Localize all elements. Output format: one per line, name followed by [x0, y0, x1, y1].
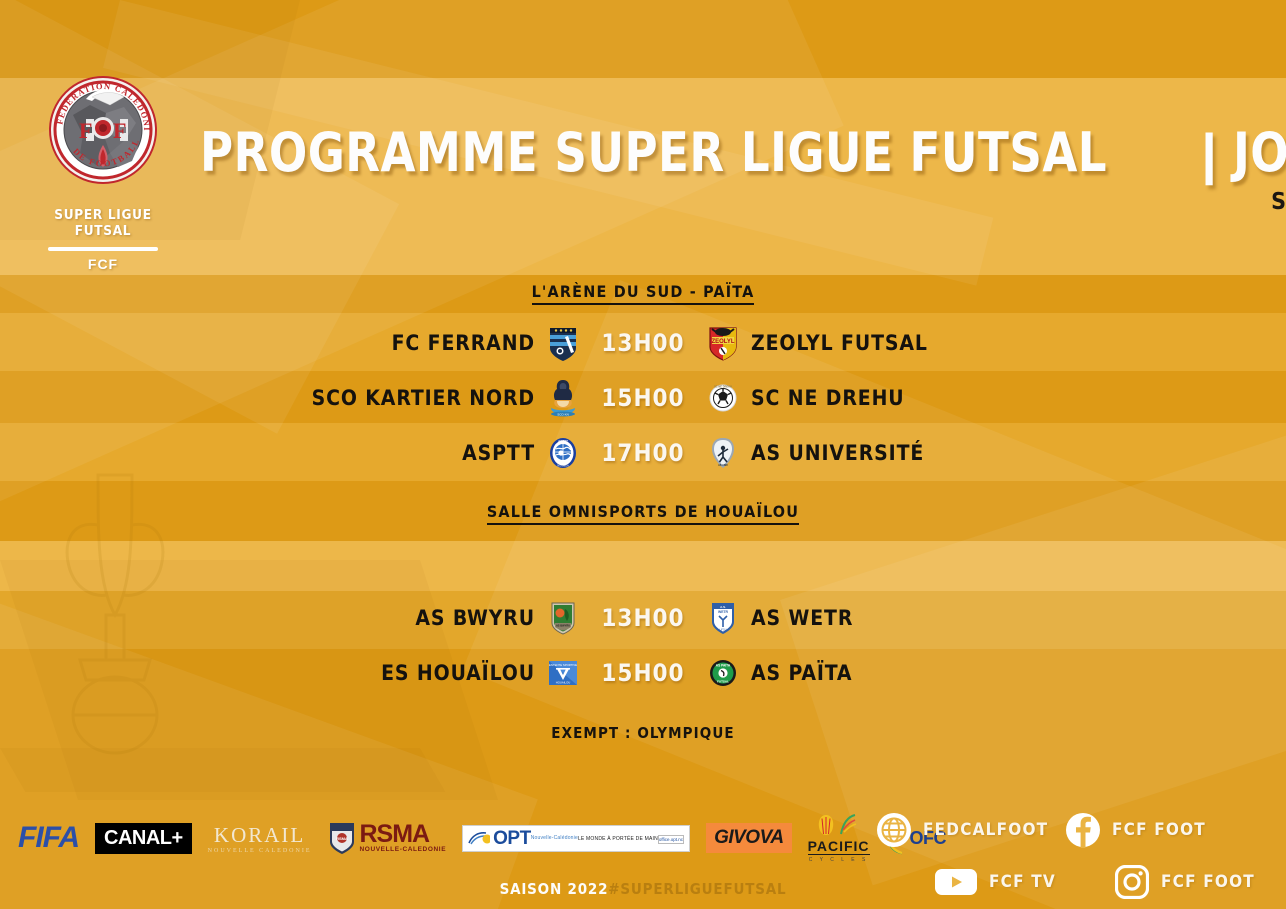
svg-text:F: F: [113, 118, 126, 143]
rsma-crest-icon: RSMA: [328, 821, 356, 855]
season-label: SAISON 2022: [500, 880, 609, 898]
match-time: 15H00: [591, 384, 695, 412]
title-separator: |: [1201, 126, 1217, 182]
globe-icon: [876, 812, 912, 848]
page-header: F F FÉDÉRATION CALÉDONIENNE: [0, 78, 1286, 275]
match-row: AS BWYRU AS BWYRU 13H00 A.S. WETR LIFOU …: [0, 590, 1286, 645]
venue-name: L'ARÈNE DU SUD - PAÏTA: [532, 282, 755, 305]
league-divider: [48, 247, 158, 251]
svg-text:SCO KN: SCO KN: [557, 412, 569, 416]
home-team-name: ES HOUAÏLOU: [245, 661, 535, 685]
sco-kartier-nord-crest-icon: SCO KN: [535, 378, 591, 418]
svg-text:ASPTT: ASPTT: [558, 439, 568, 443]
exempt-note: EXEMPT : OLYMPIQUE: [0, 724, 1286, 742]
away-team-name: ZEOLYL FUTSAL: [751, 331, 1041, 355]
venue-2: SALLE OMNISPORTS DE HOUAÏLOU: [0, 502, 1286, 525]
as-universite-crest-icon: AS UNIV: [695, 437, 751, 469]
opt-sub2: LE MONDE À PORTÉE DE MAIN: [578, 836, 658, 842]
hashtag-label: #SUPERLIGUEFUTSAL: [608, 880, 786, 898]
opt-swoosh-icon: [468, 830, 490, 846]
svg-text:AS UNIV: AS UNIV: [718, 464, 728, 467]
opt-sub1: Nouvelle-Calédonie: [531, 835, 578, 841]
opt-sub3: office.opt.nc: [658, 835, 684, 844]
away-team-name: AS WETR: [751, 606, 1041, 630]
shell-icon: [818, 814, 834, 836]
round-block: JOURNÉE 3 SAMEDI 26 MARS: [1233, 126, 1286, 215]
opt-logo: OPT: [493, 829, 531, 848]
as-wetr-crest-icon: A.S. WETR LIFOU: [695, 601, 751, 635]
match-time: 13H00: [591, 604, 695, 632]
asptt-crest-icon: ASPTT NOUMEA: [535, 437, 591, 469]
federation-crest: F F FÉDÉRATION CALÉDONIENNE: [48, 75, 158, 185]
rsma-sub: NOUVELLE-CALEDONIE: [360, 846, 447, 853]
svg-text:SC NE DREHU: SC NE DREHU: [714, 384, 732, 388]
match-date: SAMEDI 26 MARS: [1233, 189, 1286, 215]
es-houailou-crest-icon: ENTENTE SPORTIVE HOUAILOU: [535, 660, 591, 686]
title-row: PROGRAMME SUPER LIGUE FUTSAL | JOURNÉE 3…: [200, 126, 1286, 215]
federation-abbr: FCF: [33, 256, 173, 272]
sponsor-opt: OPT Nouvelle-Calédonie LE MONDE À PORTÉE…: [462, 825, 690, 852]
svg-text:ZEOLYL: ZEOLYL: [711, 339, 734, 345]
website-label: FEDCALFOOT: [923, 820, 1048, 840]
rsma-logo: RSMA: [360, 823, 447, 847]
svg-text:F: F: [79, 118, 92, 143]
home-team-name: FC FERRAND: [245, 331, 535, 355]
svg-text:A.S.: A.S.: [720, 605, 726, 609]
league-label: SUPER LIGUE FUTSAL: [33, 207, 173, 239]
svg-text:HOUAILOU: HOUAILOU: [556, 680, 571, 684]
round-title: JOURNÉE 3: [1233, 126, 1286, 180]
match-row: FC FERRAND 13H00 ZEOLYL ZEOLYL FUTSAL: [0, 315, 1286, 370]
venue-1: L'ARÈNE DU SUD - PAÏTA: [0, 282, 1286, 305]
sponsor-pacific: PACIFIC C Y C L E S: [808, 814, 870, 863]
givova-logo: GIVOVA: [706, 823, 792, 853]
social-facebook[interactable]: FCF FOOT: [1065, 812, 1206, 848]
sc-ne-drehu-crest-icon: SC NE DREHU: [695, 384, 751, 412]
sponsor-korail: KORAIL NOUVELLE CALEDONIE: [208, 823, 312, 854]
sponsor-canal-plus: CANAL+: [95, 823, 192, 854]
match-row: ASPTT ASPTT NOUMEA 17H00 AS UNIV AS UNIV…: [0, 425, 1286, 480]
home-team-name: ASPTT: [245, 441, 535, 465]
season-line: SAISON 2022#SUPERLIGUEFUTSAL: [0, 880, 1286, 898]
pacific-leaf-icon: [837, 814, 859, 836]
zeolyl-futsal-crest-icon: ZEOLYL: [695, 325, 751, 361]
svg-text:RSMA: RSMA: [336, 836, 348, 841]
svg-text:AS BWYRU: AS BWYRU: [556, 623, 570, 627]
facebook-icon: [1065, 812, 1101, 848]
as-paita-crest-icon: AS PAITA FUTSAL: [695, 659, 751, 687]
fc-ferrand-crest-icon: [535, 324, 591, 362]
sponsor-fifa: FIFA: [18, 821, 79, 855]
fifa-logo: FIFA: [18, 821, 79, 855]
pacific-logo: PACIFIC: [808, 838, 870, 855]
sponsor-rsma: RSMA RSMA NOUVELLE-CALEDONIE: [328, 821, 447, 855]
match-time: 15H00: [591, 659, 695, 687]
as-bwyru-crest-icon: AS BWYRU: [535, 601, 591, 635]
svg-text:NOUMEA: NOUMEA: [557, 463, 569, 467]
pacific-sub: C Y C L E S: [809, 857, 869, 863]
korail-sub: NOUVELLE CALEDONIE: [208, 848, 312, 854]
page-title: PROGRAMME SUPER LIGUE FUTSAL: [200, 126, 1107, 180]
match-row: ES HOUAÏLOU ENTENTE SPORTIVE HOUAILOU 15…: [0, 645, 1286, 700]
federation-branding: F F FÉDÉRATION CALÉDONIENNE: [33, 75, 173, 272]
away-team-name: AS PAÏTA: [751, 661, 1041, 685]
venue-name: SALLE OMNISPORTS DE HOUAÏLOU: [487, 502, 799, 525]
facebook-label: FCF FOOT: [1112, 820, 1206, 840]
sponsor-givova: GIVOVA: [706, 823, 792, 853]
home-team-name: SCO KARTIER NORD: [245, 386, 535, 410]
away-team-name: SC NE DREHU: [751, 386, 1041, 410]
canal-plus-logo: CANAL+: [95, 823, 192, 854]
svg-text:LIFOU: LIFOU: [719, 628, 726, 631]
match-time: 13H00: [591, 329, 695, 357]
match-row: SCO KARTIER NORD SCO KN 15H00 SC NE DREH…: [0, 370, 1286, 425]
fcf-crest-icon: F F FÉDÉRATION CALÉDONIENNE: [48, 75, 158, 185]
svg-text:ENTENTE SPORTIVE: ENTENTE SPORTIVE: [549, 663, 577, 667]
korail-logo: KORAIL: [214, 823, 305, 848]
home-team-name: AS BWYRU: [245, 606, 535, 630]
away-team-name: AS UNIVERSITÉ: [751, 441, 1041, 465]
social-website[interactable]: FEDCALFOOT: [876, 812, 1048, 848]
svg-text:FUTSAL: FUTSAL: [717, 679, 729, 683]
svg-text:AS PAITA: AS PAITA: [716, 663, 731, 667]
svg-text:WETR: WETR: [718, 610, 729, 614]
match-time: 17H00: [591, 439, 695, 467]
sponsor-strip: FIFA CANAL+ KORAIL NOUVELLE CALEDONIE RS…: [18, 808, 946, 868]
